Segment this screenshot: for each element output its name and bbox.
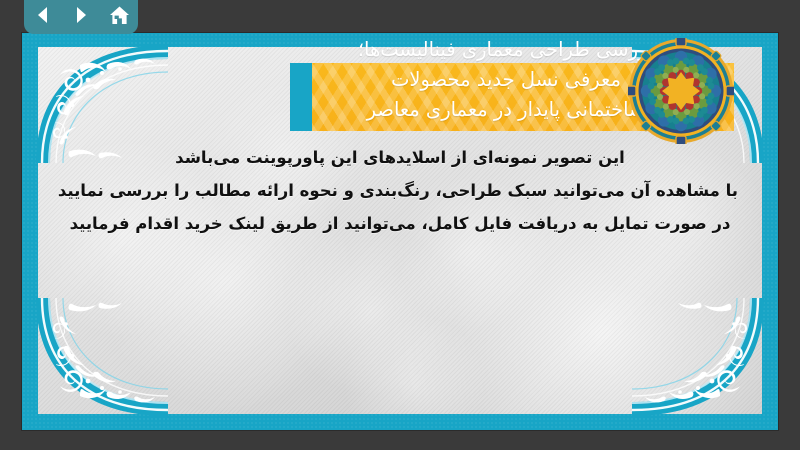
slide-frame: بررسی طراحی معماری فینالیست‌ها؛ معرفی نس… bbox=[22, 33, 778, 430]
slide-body-text: این تصویر نمونه‌ای از اسلایدهای این پاور… bbox=[62, 141, 738, 240]
triangle-left-icon bbox=[33, 5, 53, 25]
slide-body-line-3: در صورت تمایل به دریافت فایل کامل، می‌تو… bbox=[62, 207, 738, 240]
back-button[interactable] bbox=[31, 3, 55, 27]
slide-viewer: بررسی طراحی معماری فینالیست‌ها؛ معرفی نس… bbox=[0, 0, 800, 450]
triangle-right-icon bbox=[71, 5, 91, 25]
title-banner-cap bbox=[290, 63, 312, 131]
persian-medallion-ornament bbox=[628, 38, 734, 144]
home-button[interactable] bbox=[107, 3, 131, 27]
slide-body-line-2: با مشاهده آن می‌توانید سبک طراحی، رنگ‌بن… bbox=[62, 174, 738, 207]
slide-body-line-1: این تصویر نمونه‌ای از اسلایدهای این پاور… bbox=[62, 141, 738, 174]
navigation-bar bbox=[24, 0, 138, 34]
home-icon bbox=[109, 5, 130, 26]
forward-button[interactable] bbox=[69, 3, 93, 27]
